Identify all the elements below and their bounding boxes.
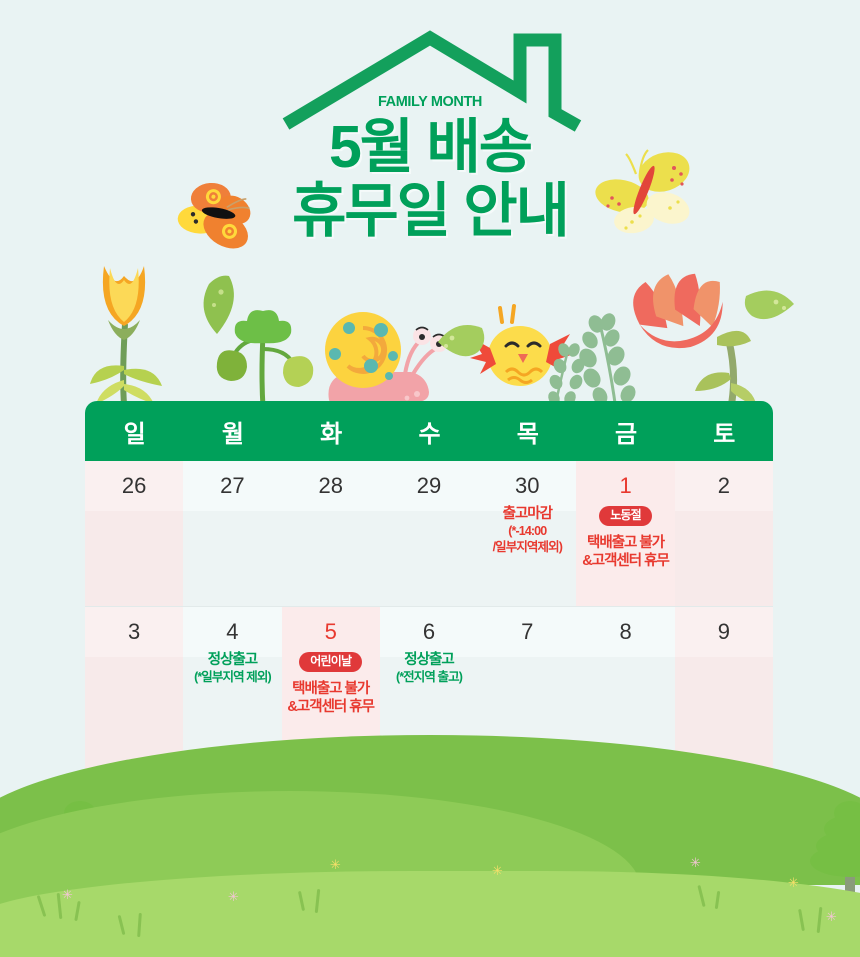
leaf-right-icon <box>740 282 800 342</box>
calendar-day-headers: 일 월 화 수 목 금 토 <box>85 401 773 461</box>
day-number: 6 <box>380 621 478 643</box>
day-number: 28 <box>282 475 380 497</box>
day-number: 9 <box>675 621 773 643</box>
page-title-line1: 5월 배송 <box>0 116 860 180</box>
sparkle-icon: ✳ <box>690 856 701 869</box>
dow-fri: 금 <box>576 401 674 461</box>
day-number: 2 <box>675 475 773 497</box>
day-number: 4 <box>183 621 281 643</box>
delivery-calendar: 일 월 화 수 목 금 토 2627282930출고마감(*-14:00/일부지… <box>85 401 773 774</box>
day-number: 27 <box>183 475 281 497</box>
eyebrow-text: FAMILY MONTH <box>0 94 860 110</box>
day-number: 7 <box>478 621 576 643</box>
day-number: 3 <box>85 621 183 643</box>
poster-canvas: FAMILY MONTH 5월 배송 휴무일 안내 <box>0 0 860 957</box>
poster-title-block: FAMILY MONTH 5월 배송 휴무일 안내 <box>0 94 860 243</box>
calendar-cell-27[interactable]: 27 <box>183 461 281 606</box>
snail-icon <box>315 310 445 410</box>
cell-note: 정상출고(*전지역 출고) <box>380 651 478 686</box>
day-number: 5 <box>282 621 380 643</box>
calendar-body: 2627282930출고마감(*-14:00/일부지역제외)1노동절택배출고 불… <box>85 461 773 774</box>
cell-note-sub: (*일부지역 제외) <box>187 670 277 686</box>
cell-note: 택배출고 불가&고객센터 휴무 <box>576 534 674 570</box>
yellow-butterfly-icon <box>586 138 701 248</box>
clover-plant-icon <box>205 305 325 410</box>
sparkle-icon: ✳ <box>330 858 341 871</box>
cell-note: 정상출고(*일부지역 제외) <box>183 651 281 686</box>
dow-thu: 목 <box>478 401 576 461</box>
cell-note-sub: (*-14:00/일부지역제외) <box>482 524 572 555</box>
calendar-cell-1[interactable]: 1노동절택배출고 불가&고객센터 휴무 <box>576 461 674 606</box>
calendar-cell-29[interactable]: 29 <box>380 461 478 606</box>
dow-wed: 수 <box>380 401 478 461</box>
hill-front <box>0 871 860 957</box>
holiday-badge: 노동절 <box>599 506 652 526</box>
dow-tue: 화 <box>282 401 380 461</box>
cell-note: 택배출고 불가&고객센터 휴무 <box>282 680 380 716</box>
sparkle-icon: ✳ <box>492 864 503 877</box>
day-number: 30 <box>478 475 576 497</box>
leaf-left-small-icon <box>430 318 488 373</box>
calendar-cell-30[interactable]: 30출고마감(*-14:00/일부지역제외) <box>478 461 576 606</box>
holiday-badge: 어린이날 <box>299 652 362 672</box>
calendar-cell-9[interactable]: 9 <box>675 607 773 774</box>
day-number: 29 <box>380 475 478 497</box>
page-title-line2: 휴무일 안내 <box>0 180 860 244</box>
sparkle-icon: ✳ <box>62 888 73 901</box>
cell-note: 출고마감(*-14:00/일부지역제외) <box>478 505 576 555</box>
cell-note-sub: (*전지역 출고) <box>384 670 474 686</box>
dow-mon: 월 <box>183 401 281 461</box>
calendar-cell-3[interactable]: 3 <box>85 607 183 774</box>
day-number: 8 <box>576 621 674 643</box>
calendar-cell-26[interactable]: 26 <box>85 461 183 606</box>
calendar-week-row: 2627282930출고마감(*-14:00/일부지역제외)1노동절택배출고 불… <box>85 461 773 606</box>
dow-sat: 토 <box>675 401 773 461</box>
calendar-cell-28[interactable]: 28 <box>282 461 380 606</box>
day-number: 1 <box>576 475 674 497</box>
dow-sun: 일 <box>85 401 183 461</box>
sparkle-icon: ✳ <box>788 876 799 889</box>
sparkle-icon: ✳ <box>826 910 837 923</box>
calendar-cell-2[interactable]: 2 <box>675 461 773 606</box>
landscape-decoration: ✳ ✳ ✳ ✳ ✳ ✳ ✳ <box>0 767 860 957</box>
day-number: 26 <box>85 475 183 497</box>
sparkle-icon: ✳ <box>228 890 239 903</box>
